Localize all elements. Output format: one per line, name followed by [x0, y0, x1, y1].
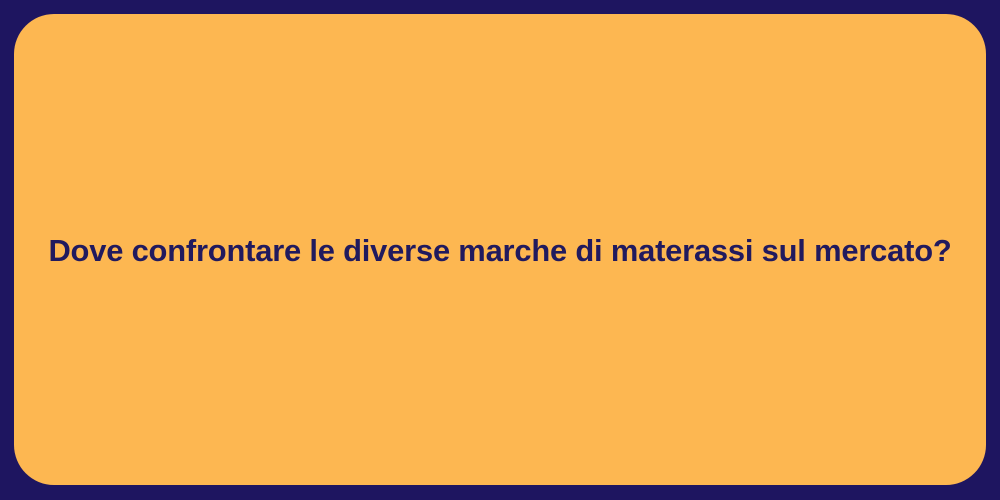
content-card: Dove confrontare le diverse marche di ma…: [14, 14, 986, 485]
page-frame: Dove confrontare le diverse marche di ma…: [0, 0, 1000, 500]
headline-container: Dove confrontare le diverse marche di ma…: [14, 233, 986, 269]
page-title: Dove confrontare le diverse marche di ma…: [48, 233, 951, 269]
